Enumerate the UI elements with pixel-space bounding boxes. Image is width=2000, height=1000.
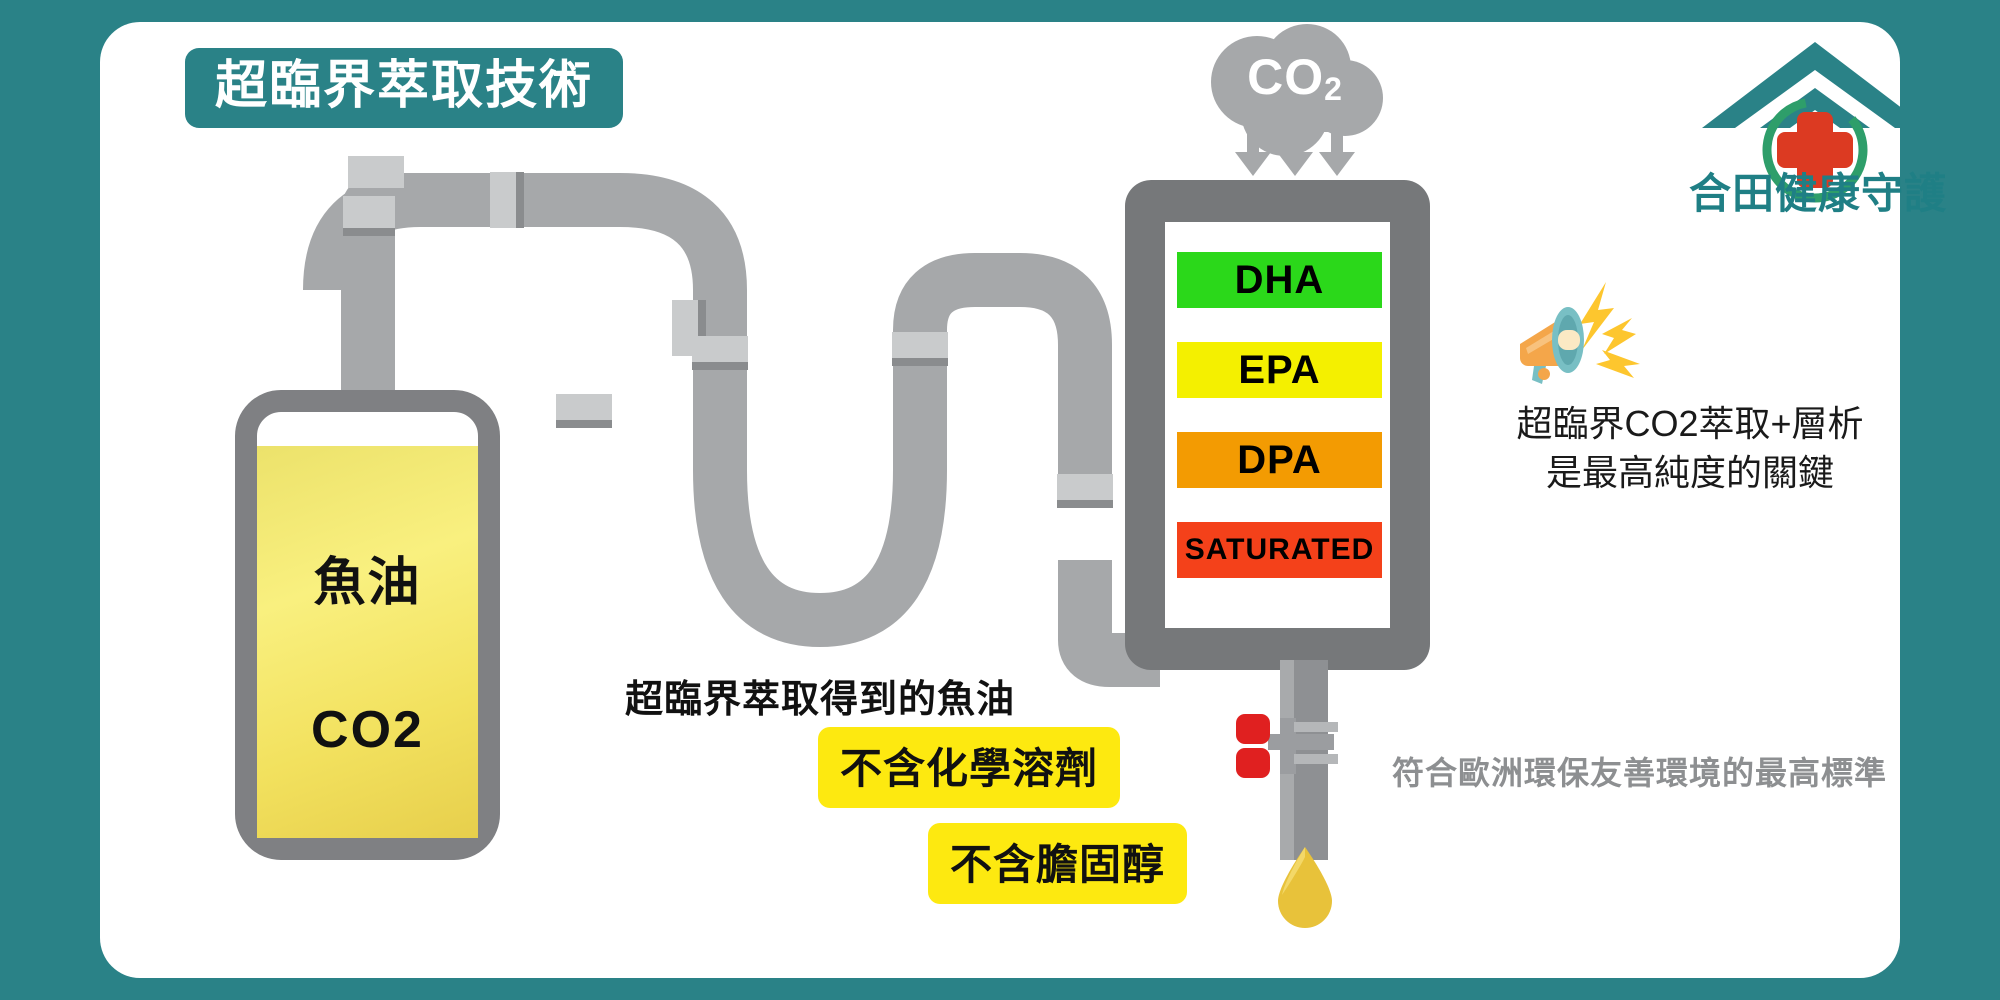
oil-drop-icon <box>1272 845 1338 931</box>
tank-fill <box>257 446 478 838</box>
bolt-icon <box>1580 282 1640 378</box>
right-annotation-line-2: 是最高純度的關鍵 <box>1480 449 1900 498</box>
fish-oil-tank: 魚油 CO2 <box>235 390 500 860</box>
infographic-root: .pipe{fill:none;stroke:#a6a8aa;stroke-wi… <box>0 0 2000 1000</box>
center-caption: 超臨界萃取得到的魚油 <box>625 668 1015 723</box>
tank-label-fish-oil: 魚油 <box>235 540 500 615</box>
logo-text: 合田健康守護 <box>1688 160 1948 221</box>
valve[interactable] <box>1228 712 1348 782</box>
band-dha: DHA <box>1177 252 1382 308</box>
band-epa: EPA <box>1177 342 1382 398</box>
highlight-no-cholesterol: 不含膽固醇 <box>928 823 1187 904</box>
tank-label-co2: CO2 <box>235 700 500 760</box>
right-annotation-line-1: 超臨界CO2萃取+層析 <box>1480 400 1900 449</box>
chromatography-column: DHA EPA DPA SATURATED <box>1125 180 1430 670</box>
band-saturated: SATURATED <box>1177 522 1382 578</box>
down-arrow-icon <box>1235 124 1355 176</box>
band-dpa: DPA <box>1177 432 1382 488</box>
page-title: 超臨界萃取技術 <box>185 48 623 128</box>
bottom-right-note: 符合歐洲環保友善環境的最高標準 <box>1392 748 1887 794</box>
valve-handle-icon <box>1236 714 1270 778</box>
highlight-no-chemical-solvent: 不含化學溶劑 <box>818 727 1120 808</box>
right-annotation: 超臨界CO2萃取+層析 是最高純度的關鍵 <box>1480 400 1900 497</box>
megaphone-icon <box>1510 280 1650 390</box>
co2-cloud-icon <box>1195 20 1395 180</box>
